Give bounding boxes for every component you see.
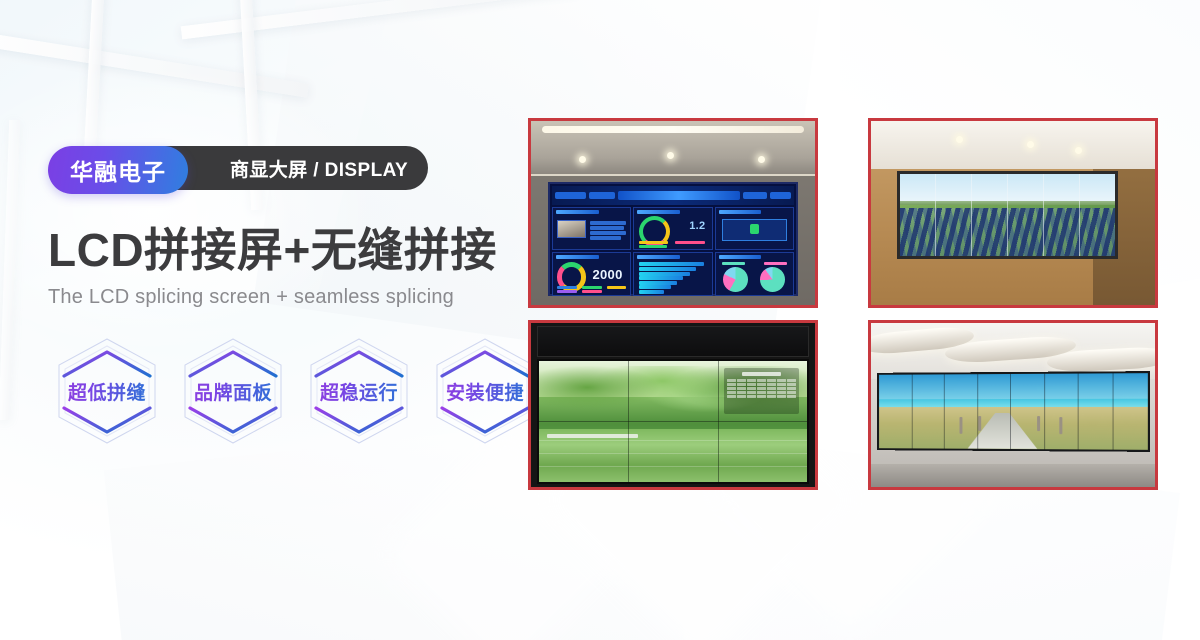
calendar-cell [767,395,776,398]
calendar-cell [777,395,786,398]
screen-seam [1043,174,1044,256]
text-line [590,231,626,235]
calendar-cell [757,387,766,390]
dashboard-card-intro [552,207,631,250]
text-line [590,221,626,225]
feature-badge-label: 超低拼缝 [68,378,146,405]
legend-item [607,286,626,289]
calendar-cell [727,395,736,398]
card-header-bar [556,255,599,259]
dashboard-card-pie-charts [715,252,794,295]
fence-post [1059,418,1062,435]
feature-badge-label: 超稳运行 [320,378,398,405]
screen-seam [911,375,912,449]
bar [639,281,677,285]
fence-post [978,416,981,431]
sky [879,373,1147,401]
photo-scene: 1.2 2000 [531,121,815,305]
fence-post [1037,416,1040,431]
feature-badge[interactable]: 安装便捷 [426,332,544,450]
bar [639,267,696,271]
stat-value: 1.2 [689,220,705,232]
screen-seam [539,421,808,422]
legend-item [639,241,668,244]
lakeside-railing [547,434,638,438]
calendar-cell [737,379,746,382]
screen-seam [1112,374,1113,450]
calendar-cell [787,379,796,382]
photo-control-room-dashboard[interactable]: 1.2 2000 [528,118,818,308]
calendar-cell [787,383,796,386]
dashboard-card-flow [715,207,794,250]
pie-chart [723,267,748,292]
calendar-cell [757,383,766,386]
legend-item [722,262,745,265]
calendar-cell [737,387,746,390]
calendar-cell [737,383,746,386]
calendar-cell [757,379,766,382]
calendar-cell [747,379,756,382]
feature-badge-label: 安装便捷 [446,378,524,405]
screen-seam [935,174,936,256]
ceiling [531,121,815,176]
screen-seam [1079,174,1080,256]
bar [639,262,704,266]
video-wall-screen [537,359,810,484]
water-ripple [539,453,808,454]
calendar-widget [724,368,799,414]
fence-post [960,417,963,433]
promo-banner: 商显大屏 / DISPLAY 华融电子 LCD拼接屏+无缝拼接 The LCD … [0,0,1200,640]
calendar-cell [737,391,746,394]
legend-item [582,290,602,293]
legend-item [639,245,667,248]
calendar-cell [727,387,736,390]
screen-seam [1010,374,1011,449]
legend-item [582,286,602,289]
calendar-cell [747,383,756,386]
bar [639,285,671,289]
ceiling-cove [542,126,803,133]
video-wall-screen [897,171,1119,259]
calendar-cell [777,387,786,390]
page-title: LCD拼接屏+无缝拼接 [48,226,548,274]
water-ripple [539,440,808,441]
dashboard-card-donut-2000: 2000 [552,252,631,295]
calendar-cell [767,379,776,382]
brand-pill: 华融电子 [48,146,188,194]
feature-badge-list: 超低拼缝 品牌面板 [48,332,544,450]
feature-badge[interactable]: 超低拼缝 [48,332,166,450]
legend-item [675,241,706,244]
wall-header-panel [537,326,810,357]
card-header-bar [719,210,762,214]
topbar-chip [743,192,767,199]
legend-item [557,290,577,293]
screen-seam [977,374,978,448]
card-thumbnail [557,220,586,237]
photo-garden-lake-wall[interactable] [528,320,818,490]
calendar-cell [777,379,786,382]
category-label: 商显大屏 / DISPLAY [230,155,408,182]
bar [639,290,665,294]
feature-badge-label: 品牌面板 [194,378,272,405]
calendar-cell [777,383,786,386]
calendar-cell [787,395,796,398]
photo-scene [531,323,815,487]
video-wall-screen [877,371,1149,452]
topbar-chip [770,192,791,199]
legend-item [764,262,787,265]
water-ripple [539,466,808,467]
topbar-chip [555,192,586,199]
copy-column: 商显大屏 / DISPLAY 华融电子 LCD拼接屏+无缝拼接 The LCD … [48,146,548,309]
text-line [590,226,624,230]
calendar-cell [787,387,796,390]
calendar-cell [727,379,736,382]
card-header-bar [637,210,680,214]
screen-seam [1078,374,1079,450]
dashboard-topbar [552,186,794,205]
calendar-cell [727,391,736,394]
photo-corridor-solar-farm[interactable] [868,118,1158,308]
legend-item [557,286,577,289]
stat-value: 2000 [592,267,622,282]
calendar-cell [767,383,776,386]
calendar-cell [747,391,756,394]
calendar-cell [747,387,756,390]
dashboard-card-donut-stat: 1.2 [633,207,712,250]
dashboard-title-bar [618,191,741,200]
bar [639,272,690,276]
pie-chart [760,267,785,292]
brand-pill-row: 商显大屏 / DISPLAY 华融电子 [48,146,548,194]
calendar-grid [727,379,796,398]
screen-seam [971,174,972,256]
calendar-cell [757,395,766,398]
brand-name-label: 华融电子 [70,153,166,187]
calendar-cell [767,387,776,390]
dashboard-card-bar-chart [633,252,712,295]
calendar-cell [737,395,746,398]
bar [639,276,683,280]
ceiling [871,121,1155,169]
calendar-cell [767,391,776,394]
card-header-bar [556,210,599,214]
topbar-chip [589,192,615,199]
calendar-title [742,372,781,376]
screen-seam [1044,374,1045,449]
card-header-bar [637,255,680,259]
calendar-cell [747,395,756,398]
screen-seam [1007,174,1008,256]
photo-scene [871,121,1155,305]
calendar-cell [727,383,736,386]
flow-node [750,224,759,233]
photo-lobby-boardwalk[interactable] [868,320,1158,490]
text-line [590,236,621,240]
product-photo-grid: 1.2 2000 [528,118,1158,490]
feature-badge[interactable]: 品牌面板 [174,332,292,450]
feature-badge[interactable]: 超稳运行 [300,332,418,450]
calendar-cell [757,391,766,394]
video-wall-screen: 1.2 2000 [548,182,798,296]
floor [871,464,1155,487]
downlight [956,136,963,143]
page-subtitle: The LCD splicing screen + seamless splic… [48,286,548,309]
card-header-bar [719,255,762,259]
calendar-cell [777,391,786,394]
photo-scene [871,323,1155,487]
screen-seam [944,375,945,449]
calendar-cell [787,391,796,394]
